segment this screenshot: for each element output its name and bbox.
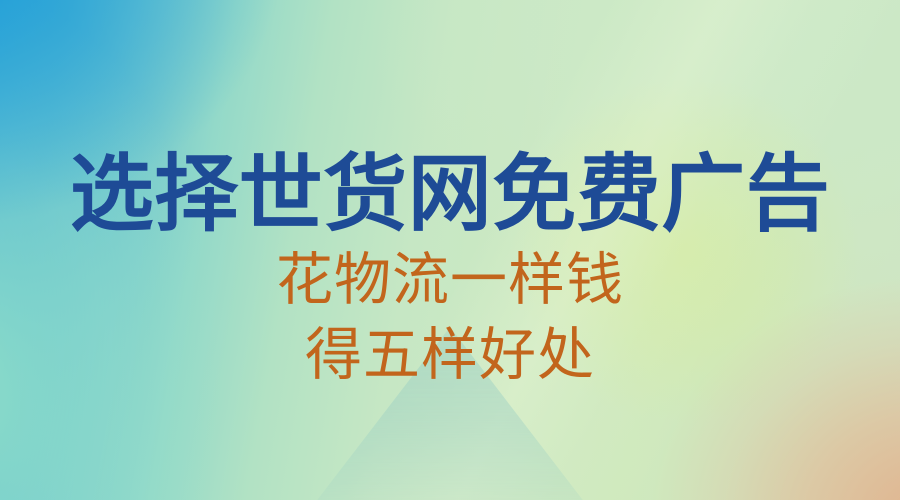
banner-subheadline-line-1: 花物流一样钱 [0, 243, 900, 318]
banner-content: 选择世货网免费广告 花物流一样钱 得五样好处 [0, 0, 900, 500]
banner-subheadline-line-2: 得五样好处 [0, 318, 900, 393]
promo-banner: 选择世货网免费广告 花物流一样钱 得五样好处 [0, 0, 900, 500]
banner-headline: 选择世货网免费广告 [0, 152, 900, 238]
banner-subheadline: 花物流一样钱 得五样好处 [0, 243, 900, 393]
